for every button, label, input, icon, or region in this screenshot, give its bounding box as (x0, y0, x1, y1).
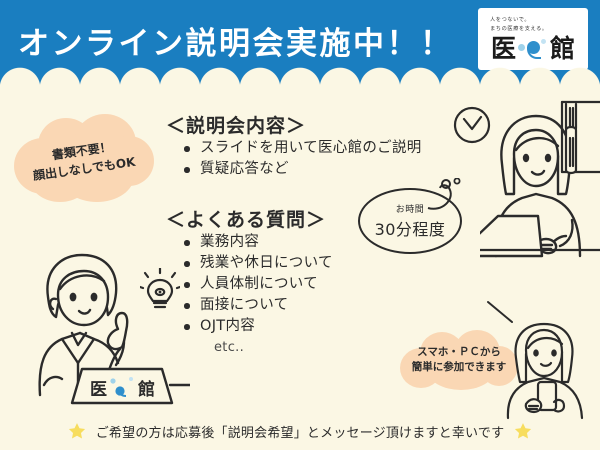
bubble-no-documents: 書類不要！ 顔出しなしでもOK (8, 112, 158, 204)
content-list: スライドを用いて医心館のご説明 質疑応答など (180, 138, 422, 180)
list-item: 業務内容 (180, 232, 333, 253)
page-title: オンライン説明会実施中！！ (18, 18, 454, 63)
logo-tagline-line1: 人をつないで。 (490, 16, 576, 24)
window-with-curtain-icon (560, 100, 600, 178)
poster-canvas: オンライン説明会実施中！！ 人をつないで。 まちの医療を支える。 医 館 ＜説明… (0, 0, 600, 450)
lightbulb-icon (140, 268, 180, 312)
faq-list: 業務内容 残業や休日について 人員体制について 面接について OJT内容 etc… (180, 232, 333, 358)
faq-etc: etc.. (180, 337, 333, 358)
scallop-base (0, 85, 600, 95)
star-icon (514, 422, 532, 440)
logo-char-kan: 館 (550, 36, 575, 61)
list-item: スライドを用いて医心館のご説明 (180, 138, 422, 159)
list-item: 質疑応答など (180, 159, 422, 180)
duration-value: 30分程度 (375, 216, 446, 240)
logo-tagline-line2: まちの医療を支える。 (490, 25, 576, 33)
section-title-faq: ＜よくある質問＞ (166, 205, 326, 232)
svg-text:医: 医 (90, 380, 107, 400)
bubble-device-text: スマホ・ＰＣから 簡単に参加できます (398, 345, 520, 375)
logo-wordmark: 医 館 (491, 36, 575, 62)
section-title-content: ＜説明会内容＞ (166, 111, 306, 138)
svg-text:館: 館 (137, 379, 155, 400)
bubble-line2: 簡単に参加できます (412, 361, 507, 373)
list-item: 面接について (180, 295, 333, 316)
logo-tagline: 人をつないで。 まちの医療を支える。 (490, 16, 576, 32)
footer-note: ご希望の方は応募後「説明会希望」とメッセージ頂けますと幸いです (0, 412, 600, 450)
star-icon (68, 422, 86, 440)
bubble-line1: スマホ・ＰＣから (417, 346, 501, 358)
kokoro-mark-icon (518, 36, 548, 62)
logo-char-i: 医 (491, 36, 516, 61)
list-item: 人員体制について (180, 274, 333, 295)
duration-bubble-tail-icon (424, 178, 470, 218)
footer-text: ご希望の方は応募後「説明会希望」とメッセージ頂けますと幸いです (96, 422, 505, 441)
list-item: 残業や休日について (180, 253, 333, 274)
duration-label: お時間 (396, 202, 425, 215)
list-item: OJT内容 (180, 316, 333, 337)
